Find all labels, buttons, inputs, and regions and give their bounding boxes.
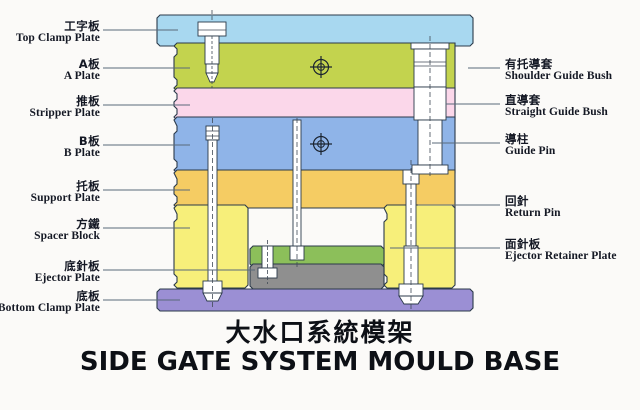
label-en: Straight Guide Bush bbox=[505, 106, 608, 118]
label-cn: 底板 bbox=[0, 290, 100, 302]
title-english: SIDE GATE SYSTEM MOULD BASE bbox=[0, 347, 640, 377]
label-en: A Plate bbox=[64, 70, 100, 82]
label-en: Top Clamp Plate bbox=[16, 32, 100, 44]
label-return-pin: 回針 Return Pin bbox=[505, 195, 561, 220]
label-straight-guide-bush: 直導套 Straight Guide Bush bbox=[505, 94, 608, 119]
label-bottom-clamp-plate: 底板 Bottom Clamp Plate bbox=[0, 290, 100, 315]
label-a-plate: A板 A Plate bbox=[64, 58, 100, 83]
label-top-clamp-plate: 工字板 Top Clamp Plate bbox=[16, 20, 100, 45]
label-cn: A板 bbox=[64, 58, 100, 70]
mould-base-diagram-page: .pl { stroke: #2b3a4a; stroke-width: 1.1… bbox=[0, 0, 640, 410]
label-b-plate: B板 B Plate bbox=[64, 135, 100, 160]
label-cn: 方鐵 bbox=[34, 218, 100, 230]
label-en: Stripper Plate bbox=[30, 107, 101, 119]
label-stripper-plate: 推板 Stripper Plate bbox=[30, 95, 101, 120]
label-cn: 導柱 bbox=[505, 133, 555, 145]
label-en: Support Plate bbox=[31, 192, 100, 204]
label-en: Shoulder Guide Bush bbox=[505, 70, 612, 82]
label-cn: 直導套 bbox=[505, 94, 608, 106]
title-chinese: 大水口系統模架 bbox=[0, 313, 640, 349]
label-shoulder-guide-bush: 有托導套 Shoulder Guide Bush bbox=[505, 58, 612, 83]
label-en: Ejector Retainer Plate bbox=[505, 250, 617, 262]
label-cn: 有托導套 bbox=[505, 58, 612, 70]
label-en: B Plate bbox=[64, 147, 100, 159]
label-cn: 推板 bbox=[30, 95, 101, 107]
stripper-plate bbox=[174, 88, 455, 120]
label-cn: 托板 bbox=[31, 180, 100, 192]
label-en: Return Pin bbox=[505, 207, 561, 219]
label-cn: B板 bbox=[64, 135, 100, 147]
label-en: Guide Pin bbox=[505, 145, 555, 157]
label-cn: 回針 bbox=[505, 195, 561, 207]
label-en: Spacer Block bbox=[34, 230, 100, 242]
label-en: Ejector Plate bbox=[35, 272, 100, 284]
label-ejector-plate: 底針板 Ejector Plate bbox=[35, 260, 100, 285]
label-cn: 底針板 bbox=[35, 260, 100, 272]
label-guide-pin: 導柱 Guide Pin bbox=[505, 133, 555, 158]
label-support-plate: 托板 Support Plate bbox=[31, 180, 100, 205]
label-cn: 面針板 bbox=[505, 238, 617, 250]
label-spacer-block: 方鐵 Spacer Block bbox=[34, 218, 100, 243]
label-ejector-retainer-plate: 面針板 Ejector Retainer Plate bbox=[505, 238, 617, 263]
label-cn: 工字板 bbox=[16, 20, 100, 32]
